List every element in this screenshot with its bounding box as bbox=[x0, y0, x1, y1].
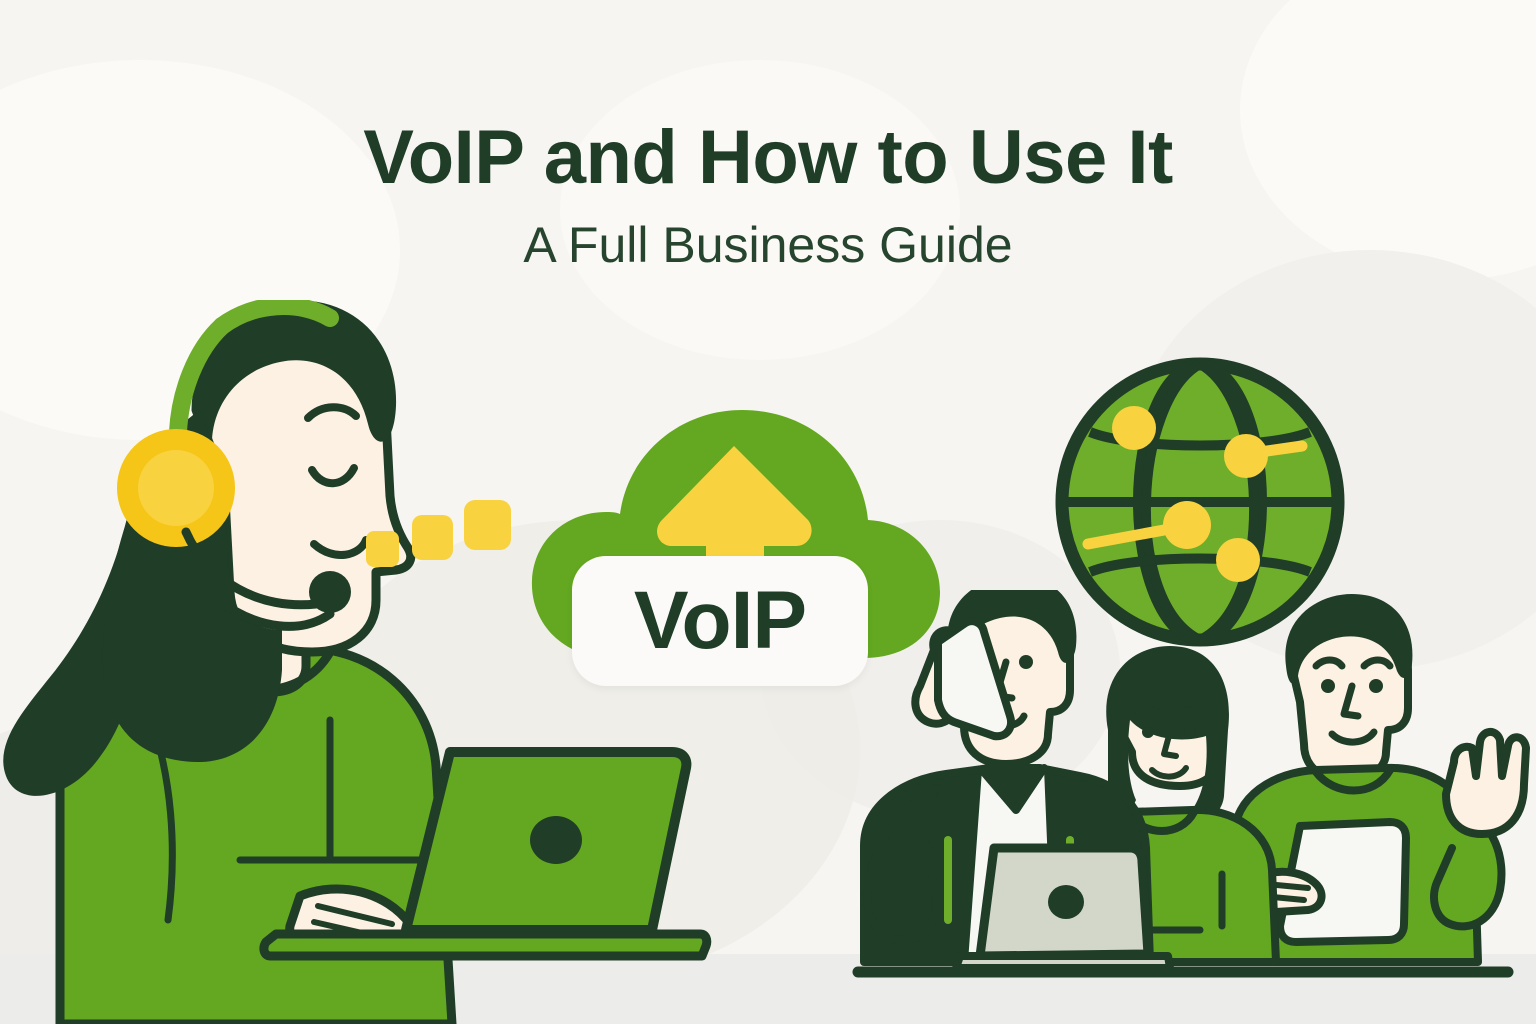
voip-badge-label: VoIP bbox=[634, 580, 806, 662]
grey-laptop-logo bbox=[1048, 885, 1084, 919]
voice-packet-small bbox=[366, 531, 399, 567]
team-illustration bbox=[830, 590, 1536, 1000]
agent-laptop-base bbox=[264, 934, 707, 956]
grey-laptop-base bbox=[956, 956, 1170, 968]
tablet-man-eye bbox=[1321, 679, 1335, 693]
page-subtitle: A Full Business Guide bbox=[0, 218, 1536, 273]
headset-mic-tip bbox=[309, 571, 351, 613]
voip-badge: VoIP bbox=[572, 556, 868, 686]
globe-node bbox=[1216, 538, 1260, 582]
laptop-logo bbox=[530, 816, 582, 864]
tablet-man-eye bbox=[1369, 679, 1383, 693]
phone-man-eye bbox=[1019, 655, 1033, 669]
laptop-woman-eye bbox=[1184, 726, 1196, 738]
laptop-woman-eye bbox=[1142, 726, 1154, 738]
globe-node bbox=[1163, 501, 1211, 549]
voice-packet-medium bbox=[412, 515, 453, 560]
poster-canvas: VoIP and How to Use It A Full Business G… bbox=[0, 0, 1536, 1024]
page-title: VoIP and How to Use It bbox=[0, 118, 1536, 198]
heading-block: VoIP and How to Use It A Full Business G… bbox=[0, 118, 1536, 273]
waving-hand-icon bbox=[1446, 732, 1526, 834]
globe-node bbox=[1112, 406, 1156, 450]
voice-packet-large bbox=[464, 500, 511, 550]
globe-node bbox=[1224, 434, 1268, 478]
